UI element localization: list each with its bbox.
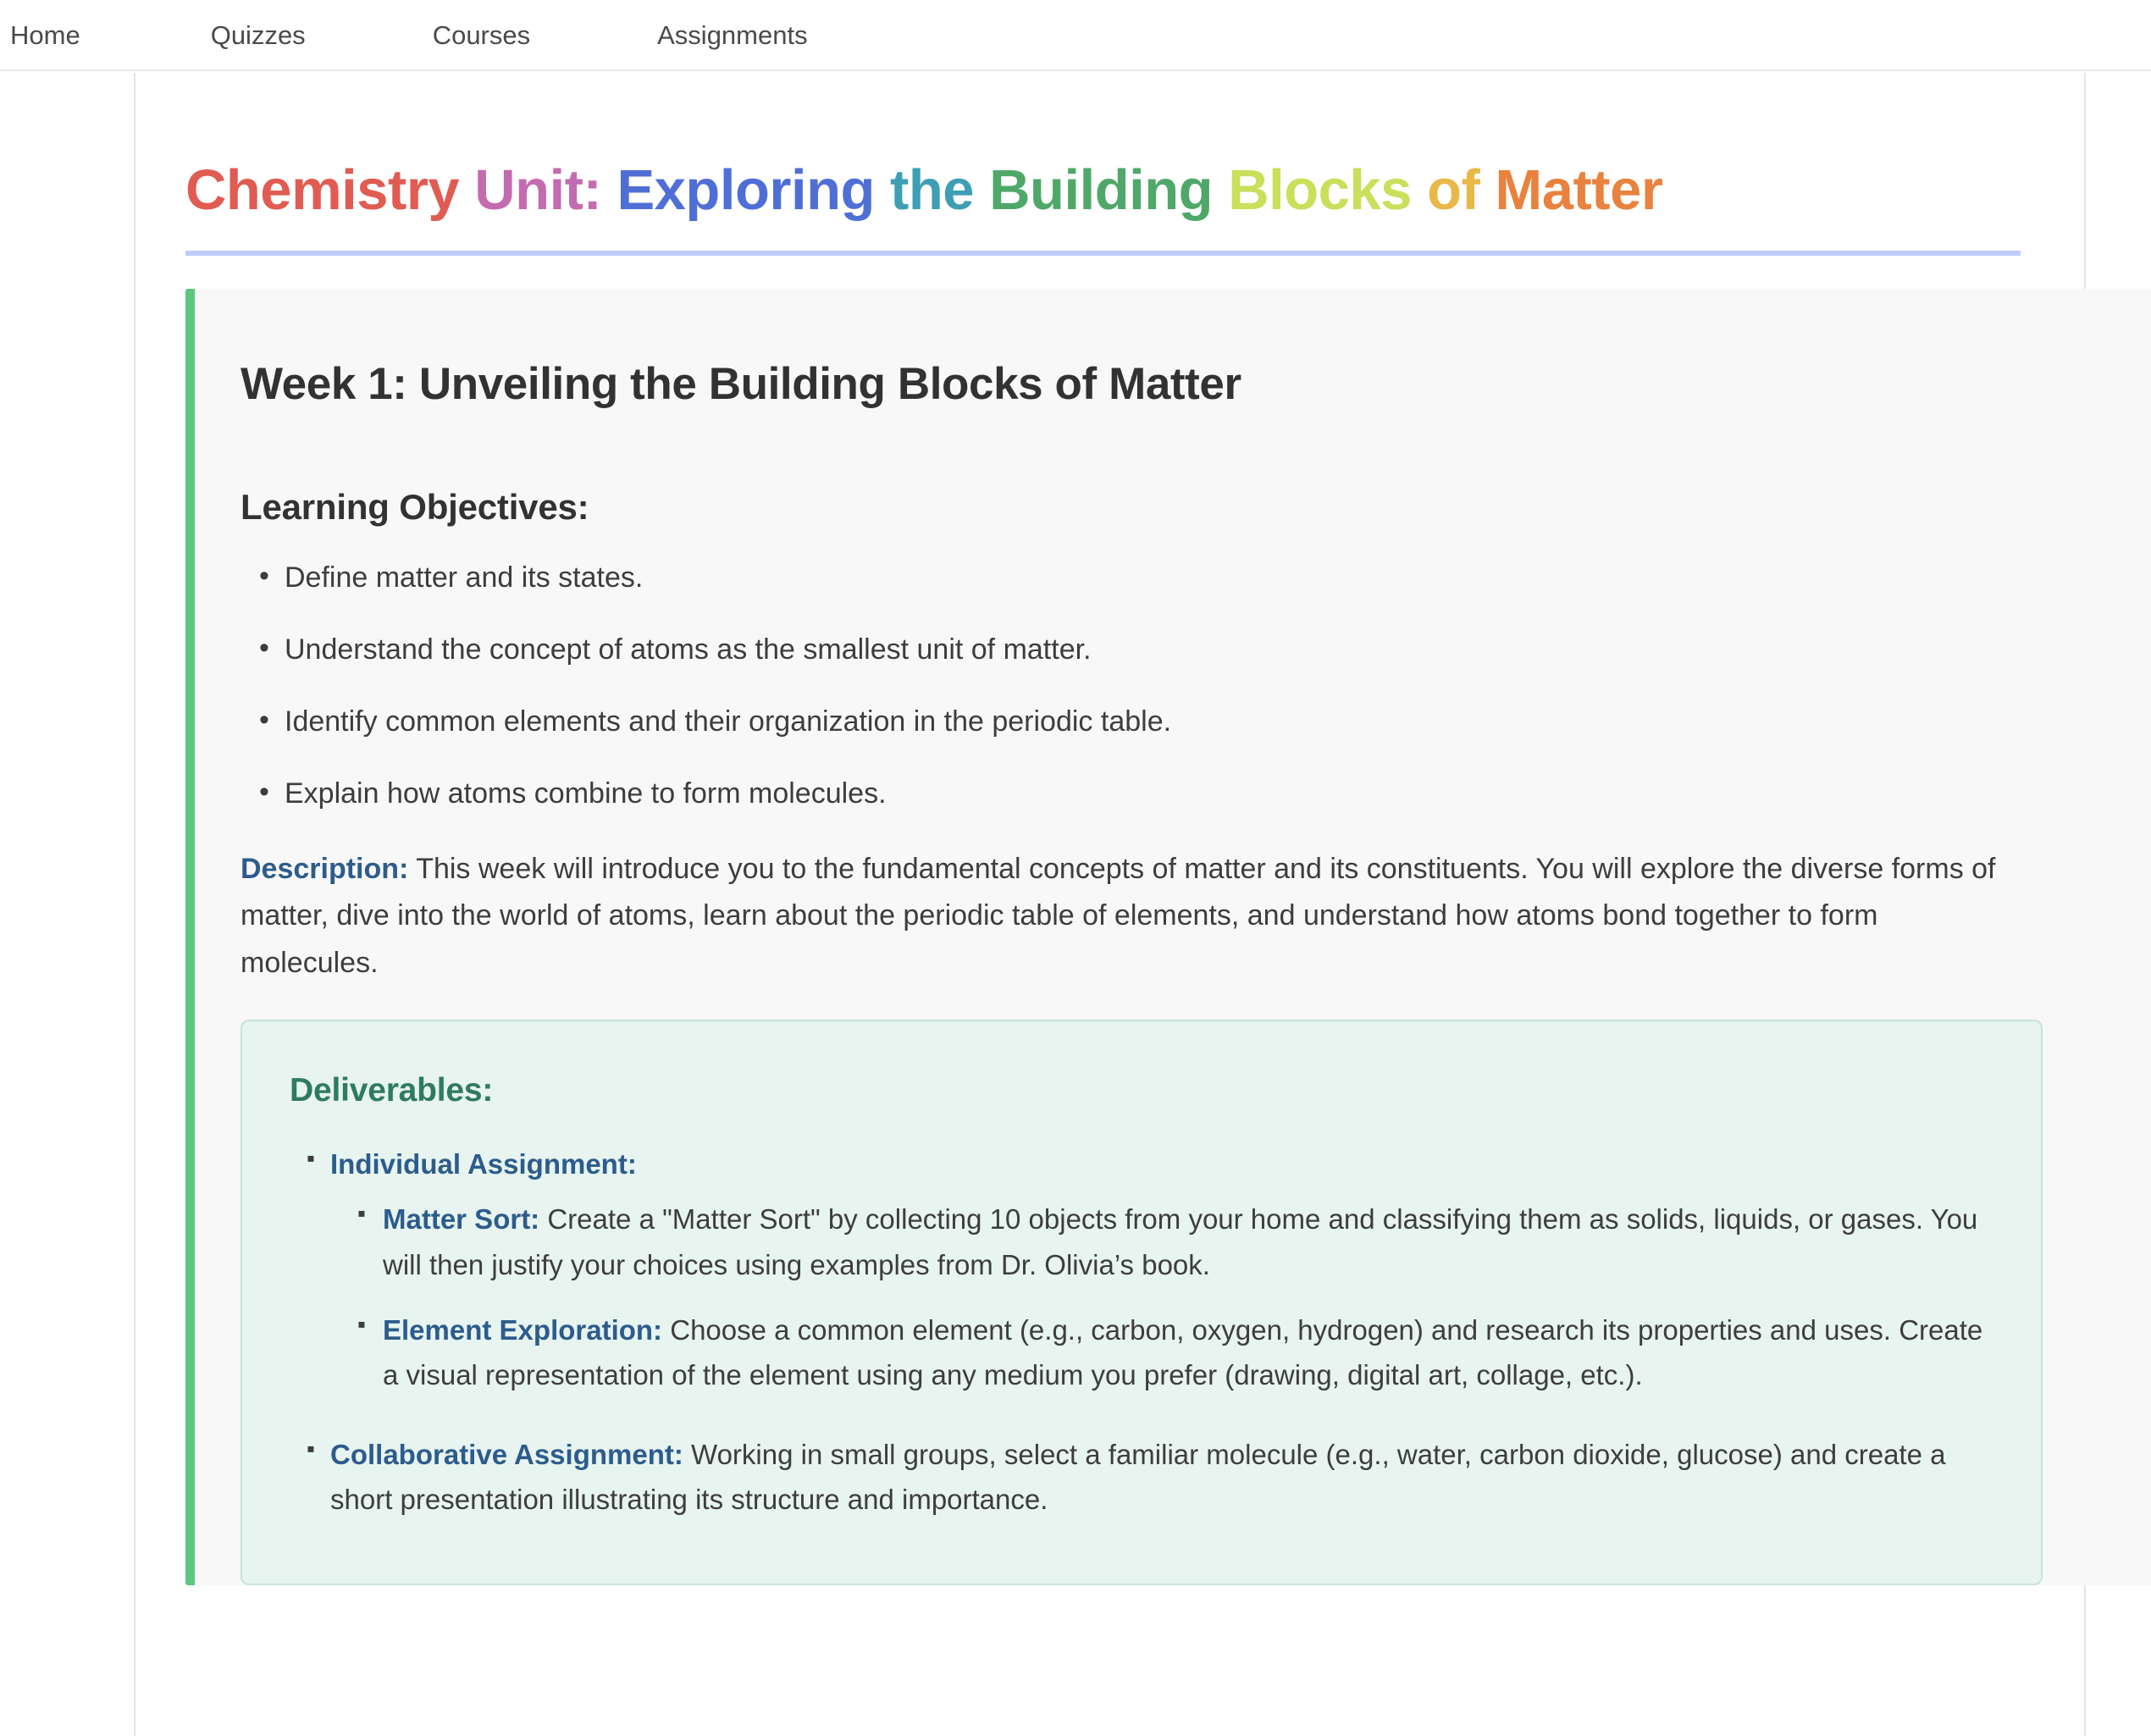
page-title-segment-5: Blocks (1228, 158, 1427, 222)
nav-item-assignments[interactable]: Assignments (657, 22, 807, 48)
page-title-segment-6: of (1427, 158, 1495, 222)
nav-item-quizzes[interactable]: Quizzes (211, 22, 306, 48)
collaborative-assignment-label: Collaborative Assignment: (330, 1439, 683, 1470)
week-heading: Week 1: Unveiling the Building Blocks of… (241, 360, 2112, 409)
matter-sort-text: Create a "Matter Sort" by collecting 10 … (383, 1203, 1977, 1280)
list-item: Explain how atoms combine to form molecu… (285, 775, 2112, 814)
matter-sort-label: Matter Sort: (383, 1203, 539, 1235)
description-label: Description: (241, 853, 408, 885)
individual-assignment-label: Individual Assignment: (330, 1148, 637, 1180)
list-item: Understand the concept of atoms as the s… (285, 631, 2112, 670)
week-description: Description: This week will introduce yo… (241, 846, 2023, 986)
page-title-segment-3: the (890, 158, 989, 222)
page-title-segment-4: Building (989, 158, 1228, 222)
page-title-segment-2: Exploring (617, 158, 890, 222)
main-content-area: Chemistry Unit: Exploring the Building B… (137, 73, 2084, 1736)
page-title-segment-1: Unit: (474, 158, 617, 222)
deliverables-box: Deliverables: Individual Assignment: Mat… (241, 1020, 2043, 1585)
learning-objectives-list: Define matter and its states. Understand… (241, 559, 2112, 814)
individual-assignment-sublist: Matter Sort: Create a "Matter Sort" by c… (330, 1197, 1993, 1398)
deliverables-list: Individual Assignment: Matter Sort: Crea… (290, 1142, 1993, 1523)
top-navigation-bar: Home Quizzes Courses Assignments (0, 0, 2151, 71)
description-text: This week will introduce you to the fund… (241, 853, 1996, 978)
list-item-element-exploration: Element Exploration: Choose a common ele… (383, 1308, 1993, 1398)
left-sidebar-rail (0, 73, 135, 1736)
list-item-matter-sort: Matter Sort: Create a "Matter Sort" by c… (383, 1197, 1993, 1287)
list-item: Define matter and its states. (285, 559, 2112, 598)
title-divider-rule (185, 251, 2021, 256)
nav-item-home[interactable]: Home (10, 22, 80, 48)
list-item-individual-assignment: Individual Assignment: Matter Sort: Crea… (330, 1142, 1993, 1398)
list-item-collaborative-assignment: Collaborative Assignment: Working in sma… (330, 1432, 1993, 1523)
deliverables-heading: Deliverables: (290, 1072, 1993, 1109)
page-title-segment-7: Matter (1495, 158, 1662, 222)
week-card: Week 1: Unveiling the Building Blocks of… (185, 289, 2151, 1584)
page-title-segment-0: Chemistry (185, 158, 474, 222)
page-title: Chemistry Unit: Exploring the Building B… (137, 73, 2084, 220)
list-item: Identify common elements and their organ… (285, 703, 2112, 742)
element-exploration-label: Element Exploration: (383, 1314, 662, 1346)
nav-item-courses[interactable]: Courses (433, 22, 530, 48)
learning-objectives-heading: Learning Objectives: (241, 488, 2112, 527)
